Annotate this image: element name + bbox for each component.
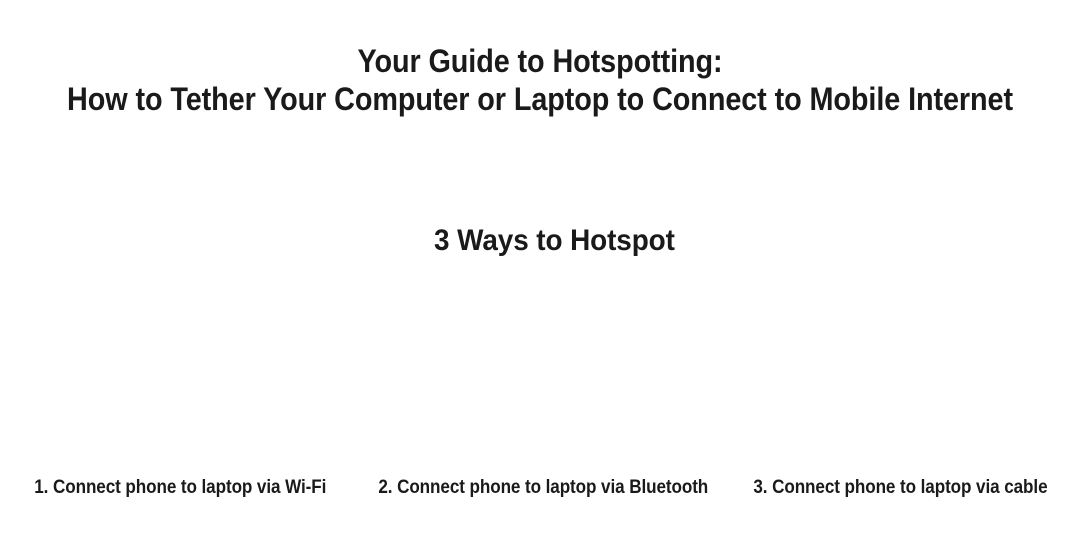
method-caption-wifi-text: 1. Connect phone to laptop via Wi-Fi [34, 476, 326, 500]
method-caption-bluetooth: 2. Connect phone to laptop via Bluetooth [360, 476, 720, 518]
methods-row: 1. Connect phone to laptop via Wi-Fi 2. … [0, 268, 1080, 518]
page-title: Your Guide to Hotspotting: How to Tether… [0, 42, 1080, 118]
page-title-line-2: How to Tether Your Computer or Laptop to… [54, 80, 1026, 118]
method-caption-cable-text: 3. Connect phone to laptop via cable [753, 476, 1047, 500]
method-image-bluetooth [375, 276, 705, 476]
method-item-bluetooth: 2. Connect phone to laptop via Bluetooth [360, 268, 720, 518]
method-caption-cable: 3. Connect phone to laptop via cable [720, 476, 1080, 518]
method-caption-wifi: 1. Connect phone to laptop via Wi-Fi [0, 476, 360, 518]
method-item-wifi: 1. Connect phone to laptop via Wi-Fi [0, 268, 360, 518]
article-page: Your Guide to Hotspotting: How to Tether… [0, 0, 1080, 552]
method-item-cable: 3. Connect phone to laptop via cable [720, 268, 1080, 518]
method-image-wifi [15, 276, 345, 476]
section-heading-text: 3 Ways to Hotspot [434, 222, 675, 260]
section-heading: 3 Ways to Hotspot [0, 222, 1080, 260]
method-image-cable [735, 276, 1065, 476]
method-caption-bluetooth-text: 2. Connect phone to laptop via Bluetooth [378, 476, 708, 500]
page-title-line-1: Your Guide to Hotspotting: [54, 42, 1026, 80]
